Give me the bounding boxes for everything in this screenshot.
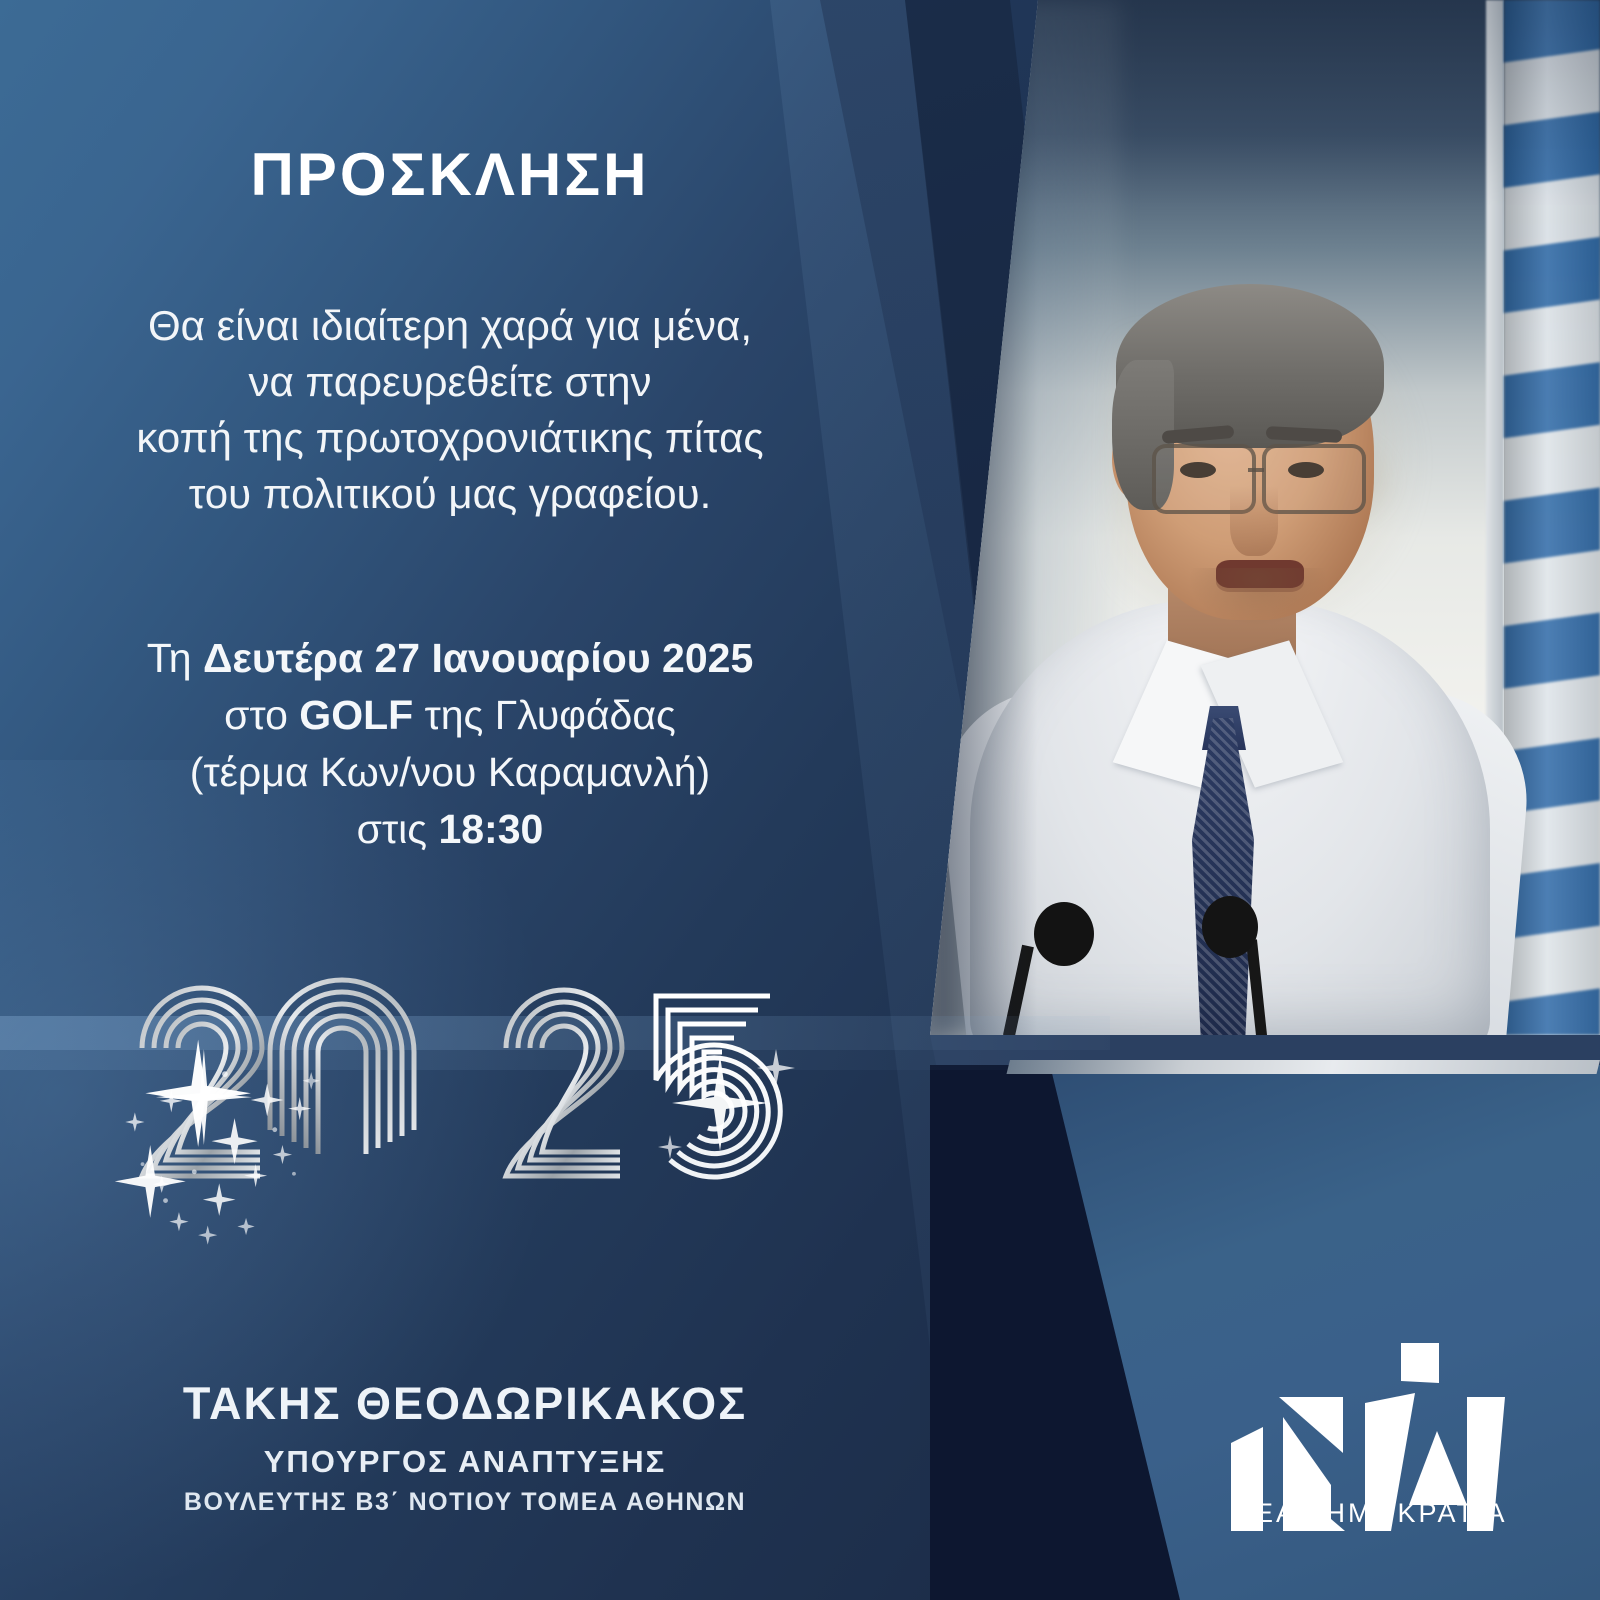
event-venue-line: στο GOLF της Γλυφάδας [0,687,900,744]
page-title: ΠΡΟΣΚΛΗΣΗ [0,140,900,209]
speaker-identity: ΤΑΚΗΣ ΘΕΟΔΩΡΙΚΑΚΟΣ ΥΠΟΥΡΓΟΣ ΑΝΑΠΤΥΞΗΣ ΒΟ… [0,1378,930,1517]
invitation-body: Θα είναι ιδιαίτερη χαρά για μένα, να παρ… [0,298,900,522]
event-time-line: στις 18:30 [0,801,900,858]
speaker-constituency: ΒΟΥΛΕΥΤΗΣ Β3΄ ΝΟΤΙΟΥ ΤΟΜΕΑ ΑΘΗΝΩΝ [0,1488,930,1517]
event-time: 18:30 [438,806,543,852]
event-venue-prefix: στο [224,692,299,738]
sparkle-secondary-icon [640,1035,820,1185]
divider-band-silver [1007,1060,1600,1074]
event-venue-name: GOLF [299,692,413,738]
event-venue-suffix: της Γλυφάδας [413,692,676,738]
photo-vignette [930,0,1600,1035]
party-name: ΝΕΑ ΔΗΜΟΚΡΑΤΙΑ [1205,1498,1535,1529]
invitation-line: Θα είναι ιδιαίτερη χαρά για μένα, [0,298,900,354]
speaker-photo [930,0,1600,1035]
speaker-name: ΤΑΚΗΣ ΘΕΟΔΩΡΙΚΑΚΟΣ [0,1378,930,1430]
event-address: (τέρμα Κων/νου Καραμανλή) [0,744,900,801]
invitation-line: του πολιτικού μας γραφείου. [0,466,900,522]
event-details: Τη Δευτέρα 27 Ιανουαρίου 2025 στο GOLF τ… [0,630,900,858]
speaker-role: ΥΠΟΥΡΓΟΣ ΑΝΑΠΤΥΞΗΣ [0,1444,930,1480]
event-date: Δευτέρα 27 Ιανουαρίου 2025 [203,635,753,681]
event-date-prefix: Τη [147,635,203,681]
invitation-line: να παρευρεθείτε στην [0,354,900,410]
invitation-poster: ΠΡΟΣΚΛΗΣΗ Θα είναι ιδιαίτερη χαρά για μέ… [0,0,1600,1600]
invitation-line: κοπή της πρωτοχρονιάτικης πίτας [0,410,900,466]
event-time-prefix: στις [357,806,439,852]
event-date-line: Τη Δευτέρα 27 Ιανουαρίου 2025 [0,630,900,687]
